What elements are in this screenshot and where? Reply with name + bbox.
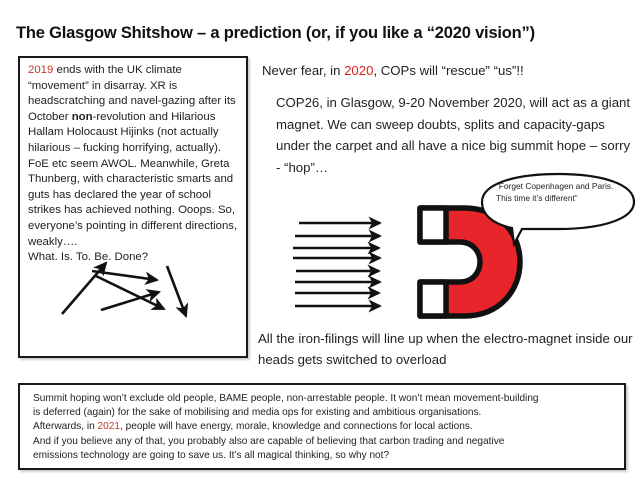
left-box-text-part-2: -revolution and Hilarious Hallam Holocau… — [28, 111, 237, 248]
bottom-line-3-part-1: Afterwards, in — [33, 421, 98, 432]
magnet-pole-bottom — [420, 282, 446, 316]
bottom-year-2021: 2021 — [98, 421, 120, 432]
cop26-paragraph: COP26, in Glasgow, 9-20 November 2020, w… — [276, 92, 632, 178]
bottom-line-1: Summit hoping won’t exclude old people, … — [33, 393, 539, 404]
bottom-summary-box: Summit hoping won’t exclude old people, … — [18, 383, 626, 470]
left-commentary-box: 2019 ends with the UK climate “movement”… — [18, 56, 248, 358]
headline-part-1: Never fear, in — [262, 63, 344, 78]
left-box-year-2019: 2019 — [28, 64, 53, 76]
bottom-line-5: emissions technology are going to save u… — [33, 450, 389, 461]
left-commentary-text: 2019 ends with the UK climate “movement”… — [28, 63, 242, 266]
headline-part-2: , COPs will “rescue” “us”!! — [373, 63, 523, 78]
bottom-line-3-part-2: , people will have energy, morale, knowl… — [120, 421, 473, 432]
bottom-summary-text: Summit hoping won’t exclude old people, … — [33, 392, 619, 463]
scribble-arrow-up-right — [62, 263, 106, 314]
bottom-line-2: is deferred (again) for the sake of mobi… — [33, 407, 481, 418]
iron-filings-caption: All the iron-filings will line up when t… — [258, 328, 640, 370]
speech-bubble-text: “Forget Copenhagen and Paris. This time … — [496, 181, 618, 204]
left-box-emphasis-non: non — [72, 111, 93, 123]
bottom-line-4: And if you believe any of that, you prob… — [33, 436, 504, 447]
never-fear-headline: Never fear, in 2020, COPs will “rescue” … — [262, 62, 640, 79]
page-title: The Glasgow Shitshow – a prediction (or,… — [16, 24, 632, 43]
slide-canvas: The Glasgow Shitshow – a prediction (or,… — [0, 0, 640, 480]
headline-year-2020: 2020 — [344, 63, 373, 78]
scribble-arrow-down — [167, 266, 186, 316]
field-arrow-set — [293, 223, 380, 306]
scribble-arrows-group — [20, 254, 246, 354]
magnet-pole-top — [420, 208, 446, 242]
scribble-arrow-set — [62, 263, 186, 316]
